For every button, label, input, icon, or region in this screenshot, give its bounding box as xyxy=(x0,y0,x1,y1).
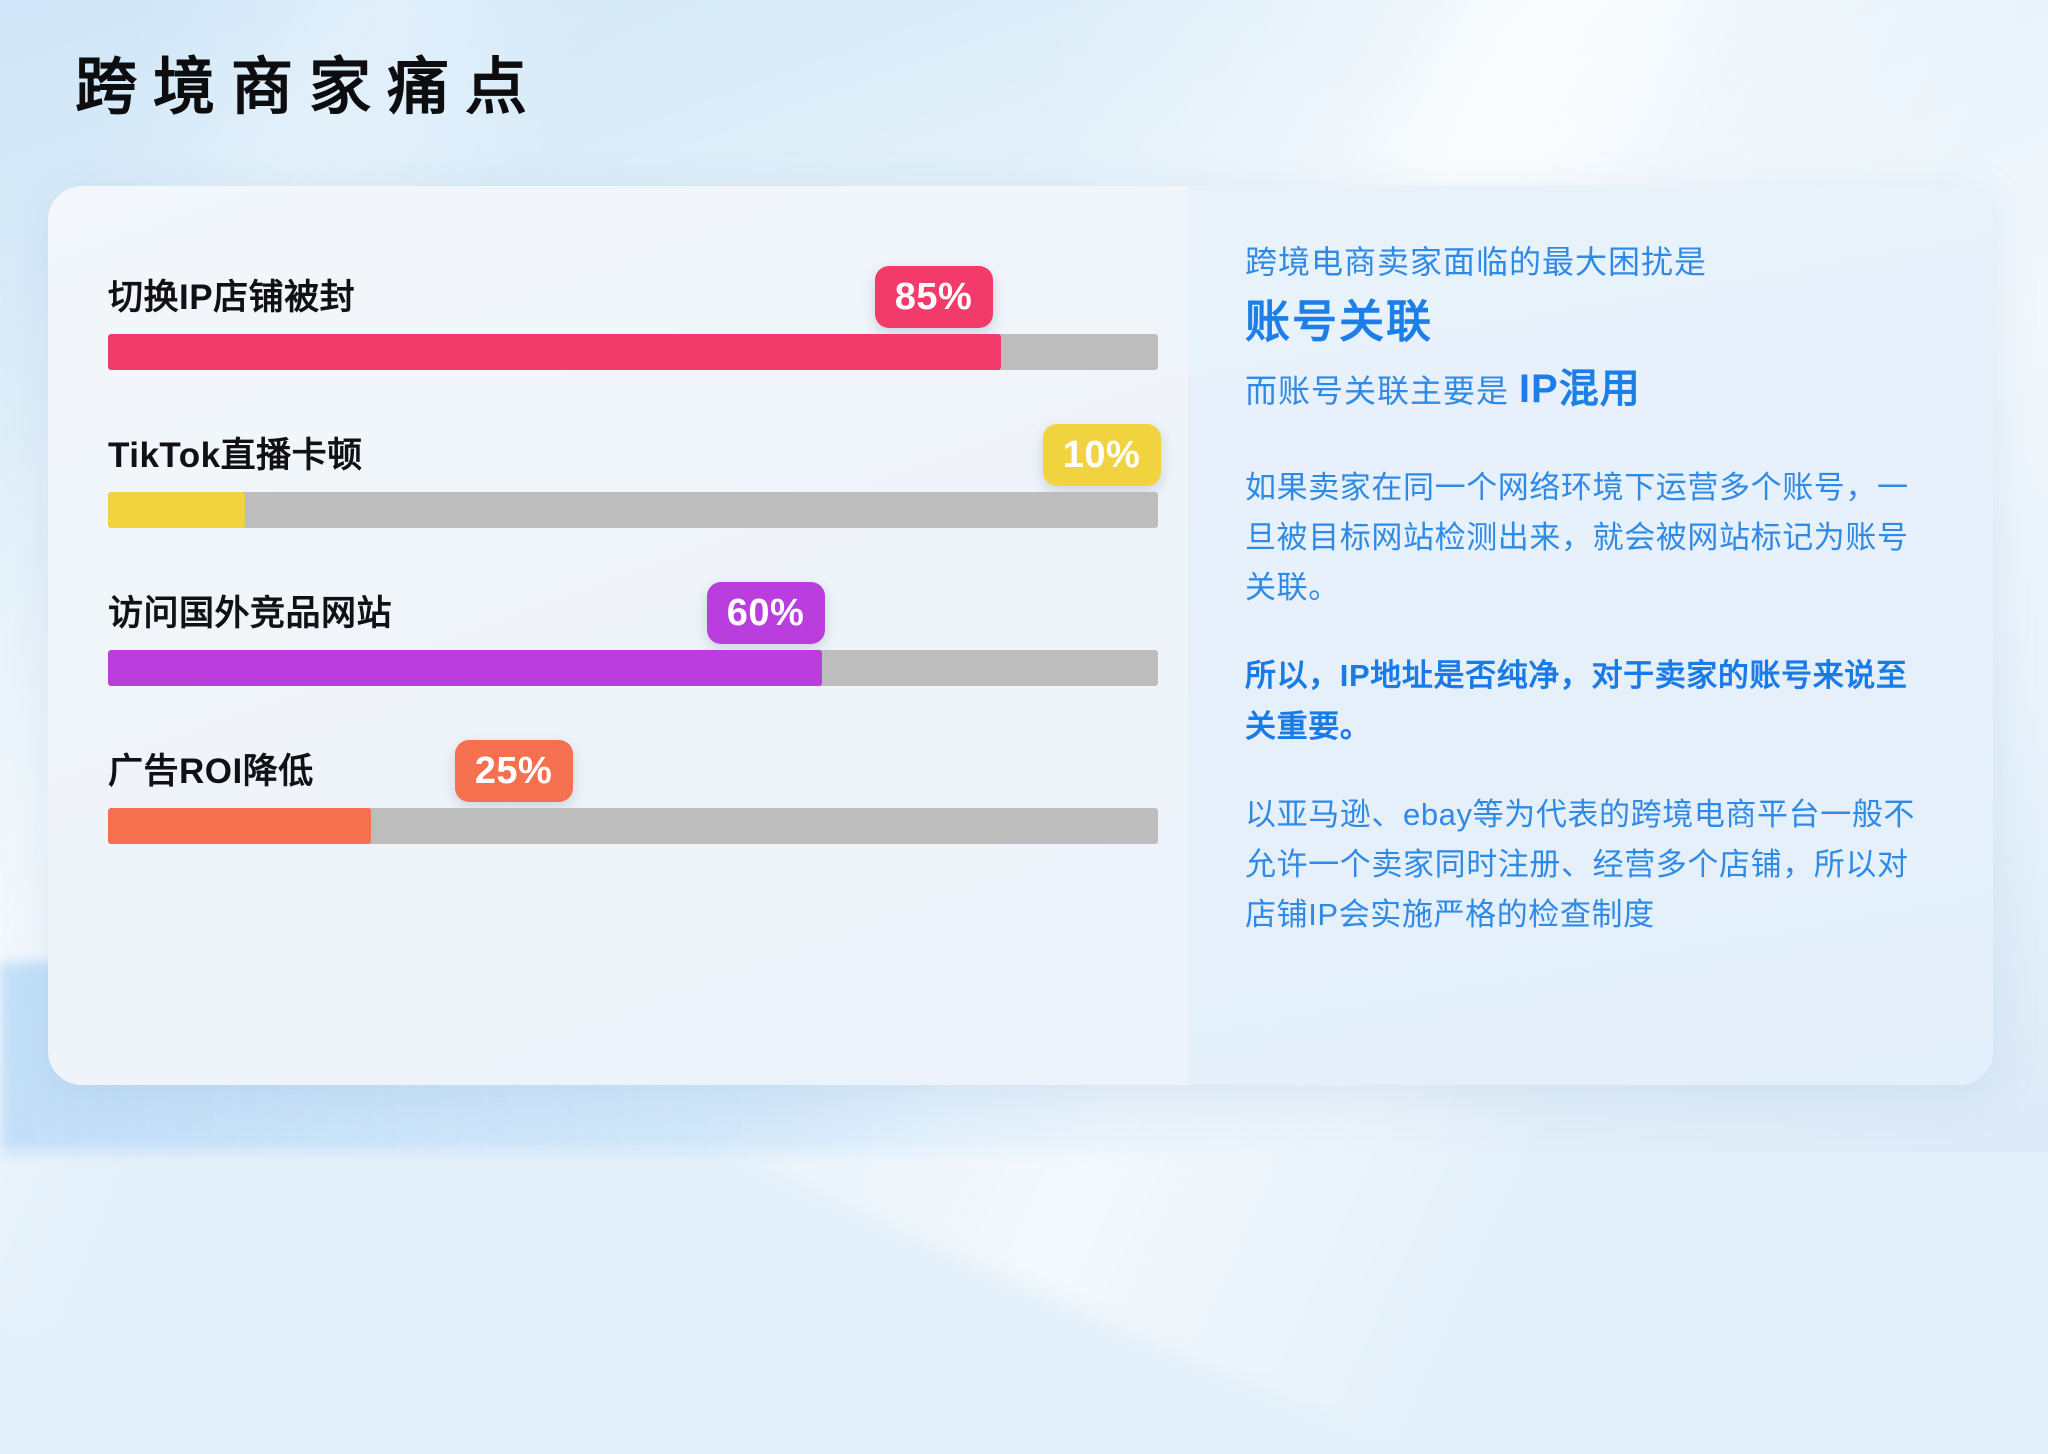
bar-track xyxy=(108,334,1158,370)
bar-label: TikTok直播卡顿 xyxy=(108,438,363,473)
bar-value-badge: 25% xyxy=(455,740,573,802)
pain-point-chart-panel: 切换IP店铺被封85%TikTok直播卡顿10%访问国外竞品网站60%广告ROI… xyxy=(48,186,1188,1085)
info-subtitle-strong: IP混用 xyxy=(1519,367,1641,411)
bar-value-badge: 60% xyxy=(707,582,825,644)
info-highlight-text: 账号关联 xyxy=(1245,292,1933,353)
bar-value-badge: 85% xyxy=(875,266,993,328)
info-subtitle-text: 而账号关联主要是 IP混用 xyxy=(1245,359,1933,419)
info-paragraph-3: 以亚马逊、ebay等为代表的跨境电商平台一般不允许一个卖家同时注册、经营多个店铺… xyxy=(1245,790,1933,941)
info-paragraph-1: 如果卖家在同一个网络环境下运营多个账号，一旦被目标网站检测出来，就会被网站标记为… xyxy=(1245,463,1933,614)
bar-header: 访问国外竞品网站60% xyxy=(108,576,1158,650)
bar-fill xyxy=(108,492,245,528)
bar-fill xyxy=(108,808,371,844)
bar-label: 广告ROI降低 xyxy=(108,754,314,789)
info-subtitle-prefix: 而账号关联主要是 xyxy=(1245,373,1519,409)
bar-value-badge: 10% xyxy=(1043,424,1161,486)
bar-header: TikTok直播卡顿10% xyxy=(108,418,1158,492)
page-title: 跨境商家痛点 xyxy=(75,54,543,122)
content-card: 切换IP店铺被封85%TikTok直播卡顿10%访问国外竞品网站60%广告ROI… xyxy=(48,186,1993,1085)
bar-label: 切换IP店铺被封 xyxy=(108,280,355,315)
bar-track xyxy=(108,808,1158,844)
info-lead-text: 跨境电商卖家面临的最大困扰是 xyxy=(1245,238,1933,286)
bar-chart: 切换IP店铺被封85%TikTok直播卡顿10%访问国外竞品网站60%广告ROI… xyxy=(108,260,1158,844)
bar-label: 访问国外竞品网站 xyxy=(108,596,392,631)
bar-row: 访问国外竞品网站60% xyxy=(108,576,1158,686)
bar-fill xyxy=(108,334,1001,370)
bar-fill xyxy=(108,650,822,686)
bar-row: 切换IP店铺被封85% xyxy=(108,260,1158,370)
bar-row: TikTok直播卡顿10% xyxy=(108,418,1158,528)
bar-header: 切换IP店铺被封85% xyxy=(108,260,1158,334)
bar-track xyxy=(108,650,1158,686)
bar-row: 广告ROI降低25% xyxy=(108,734,1158,844)
bar-track xyxy=(108,492,1158,528)
info-paragraph-2: 所以，IP地址是否纯净，对于卖家的账号来说至关重要。 xyxy=(1245,651,1933,751)
bar-header: 广告ROI降低25% xyxy=(108,734,1158,808)
info-panel: 跨境电商卖家面临的最大困扰是 账号关联 而账号关联主要是 IP混用 如果卖家在同… xyxy=(1188,186,1993,1085)
